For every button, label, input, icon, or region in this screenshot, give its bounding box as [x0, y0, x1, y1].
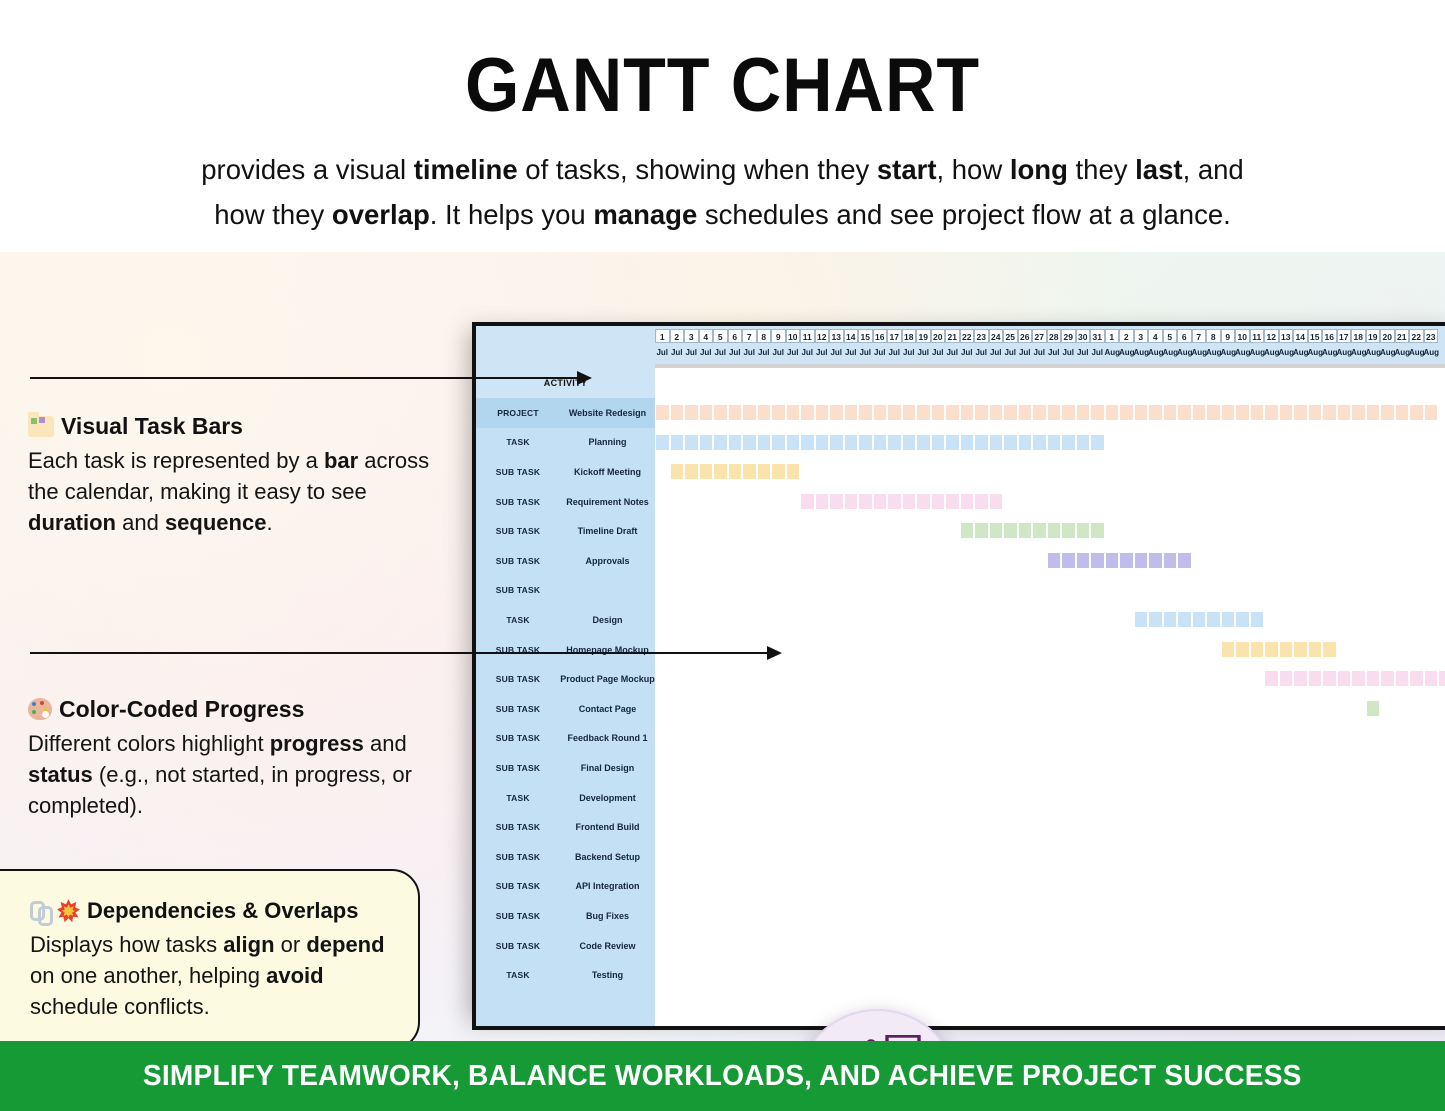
gantt-task-bar[interactable]	[960, 523, 1105, 538]
date-header-day: 23	[1424, 329, 1439, 343]
date-header-day: 11	[800, 329, 815, 343]
gantt-date-header[interactable]: 1Jul2Jul3Jul4Jul5Jul6Jul7Jul8Jul9Jul10Ju…	[655, 326, 1438, 368]
gantt-bar-segment	[771, 435, 786, 450]
gantt-bar-segment	[1090, 553, 1105, 568]
date-header-day: 2	[1119, 329, 1134, 343]
gantt-bar-segment	[815, 494, 830, 509]
gantt-bar-segment	[742, 435, 757, 450]
gantt-bar-segment	[1018, 435, 1033, 450]
date-header-cell[interactable]: 22Jul	[960, 326, 975, 368]
date-header-cell[interactable]: 19Aug	[1366, 326, 1381, 368]
date-header-month: Aug	[1235, 348, 1250, 357]
date-header-cell[interactable]: 23Aug	[1424, 326, 1439, 368]
date-header-day: 22	[1409, 329, 1424, 343]
gantt-bar-segment	[728, 435, 743, 450]
task-name-label: Planning	[560, 437, 655, 447]
date-header-cell[interactable]: 30Jul	[1076, 326, 1091, 368]
date-header-cell[interactable]: 9Aug	[1221, 326, 1236, 368]
date-header-cell[interactable]: 3Aug	[1134, 326, 1149, 368]
gantt-task-row[interactable]: TASKPlanning	[476, 428, 655, 458]
date-header-cell[interactable]: 11Jul	[800, 326, 815, 368]
gantt-bar-segment	[1076, 435, 1091, 450]
date-header-cell[interactable]: 1Jul	[655, 326, 670, 368]
task-type-label: SUB TASK	[476, 704, 560, 714]
gantt-bar-segment	[713, 464, 728, 479]
date-header-month: Aug	[1351, 348, 1366, 357]
gantt-bar-segment	[1395, 405, 1410, 420]
activity-header-filler	[655, 368, 1445, 398]
page-subtitle: provides a visual timeline of tasks, sho…	[0, 148, 1445, 237]
gantt-task-bar[interactable]	[1134, 612, 1265, 627]
card-index-dividers-icon	[28, 416, 54, 437]
date-header-cell[interactable]: 16Aug	[1322, 326, 1337, 368]
gantt-bar-segment	[670, 405, 685, 420]
date-header-day: 12	[1264, 329, 1279, 343]
date-header-cell[interactable]: 15Jul	[858, 326, 873, 368]
gantt-bar-segment	[858, 405, 873, 420]
date-header-cell[interactable]: 27Jul	[1032, 326, 1047, 368]
task-name-label: Feedback Round 1	[560, 733, 655, 743]
date-header-cell[interactable]: 20Jul	[931, 326, 946, 368]
task-type-label: TASK	[476, 970, 560, 980]
date-header-cell[interactable]: 26Jul	[1018, 326, 1033, 368]
task-type-label: PROJECT	[476, 408, 560, 418]
gantt-task-row[interactable]: SUB TASKContact Page	[476, 694, 655, 724]
date-header-day: 31	[1090, 329, 1105, 343]
content-canvas: Visual Task Bars Each task is represente…	[0, 252, 1445, 1041]
date-header-cell[interactable]: 7Jul	[742, 326, 757, 368]
gantt-bar-segment	[757, 464, 772, 479]
date-header-cell[interactable]: 21Jul	[945, 326, 960, 368]
gantt-bar-segment	[989, 435, 1004, 450]
date-header-day: 7	[742, 329, 757, 343]
pointer-arrow-middle	[30, 652, 780, 654]
gantt-bar-segment	[1061, 435, 1076, 450]
gantt-task-row[interactable]: SUB TASKFeedback Round 1	[476, 724, 655, 754]
date-header-month: Jul	[916, 348, 931, 357]
gantt-bar-segment	[742, 464, 757, 479]
date-header-month: Jul	[815, 348, 830, 357]
gantt-bar-segment	[1409, 405, 1424, 420]
gantt-bar-segment	[1061, 523, 1076, 538]
date-header-cell[interactable]: 18Aug	[1351, 326, 1366, 368]
gantt-bar-segment	[1366, 405, 1381, 420]
gantt-bar-segment	[1308, 405, 1323, 420]
date-header-month: Aug	[1119, 348, 1134, 357]
date-header-cell[interactable]: 15Aug	[1308, 326, 1323, 368]
task-name-label: Requirement Notes	[560, 497, 655, 507]
gantt-header-band: 1Jul2Jul3Jul4Jul5Jul6Jul7Jul8Jul9Jul10Ju…	[476, 326, 1445, 368]
gantt-bar-segment	[916, 435, 931, 450]
gantt-task-row[interactable]: SUB TASKRequirement Notes	[476, 487, 655, 517]
gantt-bar-segment	[1177, 612, 1192, 627]
gantt-task-row[interactable]: SUB TASKBackend Setup	[476, 842, 655, 872]
gantt-bar-segment	[945, 435, 960, 450]
task-type-label: SUB TASK	[476, 556, 560, 566]
gantt-bars-area[interactable]	[655, 398, 1445, 1026]
date-header-day: 27	[1032, 329, 1047, 343]
feature-2-heading-text: Color-Coded Progress	[59, 695, 304, 724]
date-header-month: Aug	[1366, 348, 1381, 357]
date-header-cell[interactable]: 17Aug	[1337, 326, 1352, 368]
date-header-cell[interactable]: 14Jul	[844, 326, 859, 368]
task-name-label: Frontend Build	[560, 822, 655, 832]
date-header-cell[interactable]: 20Aug	[1380, 326, 1395, 368]
gantt-bar-segment	[699, 464, 714, 479]
date-header-cell[interactable]: 2Jul	[670, 326, 685, 368]
date-header-day: 6	[1177, 329, 1192, 343]
date-header-month: Jul	[960, 348, 975, 357]
gantt-task-bar[interactable]	[1366, 701, 1381, 716]
gantt-bar-segment	[1264, 642, 1279, 657]
gantt-task-row[interactable]: SUB TASKApprovals	[476, 546, 655, 576]
task-type-label: TASK	[476, 437, 560, 447]
date-header-day: 5	[713, 329, 728, 343]
gantt-bar-segment	[815, 405, 830, 420]
gantt-task-label-column[interactable]: PROJECTWebsite RedesignTASKPlanningSUB T…	[476, 398, 655, 1026]
gantt-bar-segment	[1395, 671, 1410, 686]
date-header-cell[interactable]: 18Jul	[902, 326, 917, 368]
gantt-bar-segment	[1380, 671, 1395, 686]
gantt-bar-segment	[1337, 671, 1352, 686]
gantt-task-row[interactable]: SUB TASKCode Review	[476, 931, 655, 961]
gantt-bar-segment	[873, 494, 888, 509]
gantt-bar-segment	[1003, 523, 1018, 538]
task-name-label: Backend Setup	[560, 852, 655, 862]
date-header-day: 10	[1235, 329, 1250, 343]
date-header-cell[interactable]: 4Jul	[699, 326, 714, 368]
date-header-cell[interactable]: 12Jul	[815, 326, 830, 368]
gantt-bar-segment	[815, 435, 830, 450]
date-header-cell[interactable]: 14Aug	[1293, 326, 1308, 368]
date-header-month: Aug	[1221, 348, 1236, 357]
date-header-month: Jul	[670, 348, 685, 357]
date-header-cell[interactable]: 6Jul	[728, 326, 743, 368]
gantt-bar-segment	[670, 435, 685, 450]
gantt-bar-segment	[1148, 553, 1163, 568]
date-header-cell[interactable]: 10Jul	[786, 326, 801, 368]
gantt-bar-segment	[916, 494, 931, 509]
gantt-task-row[interactable]: SUB TASKFinal Design	[476, 753, 655, 783]
date-header-cell[interactable]: 6Aug	[1177, 326, 1192, 368]
gantt-bar-segment	[902, 494, 917, 509]
gantt-bar-segment	[1163, 553, 1178, 568]
gantt-bar-segment	[960, 405, 975, 420]
date-header-cell[interactable]: 1Aug	[1105, 326, 1120, 368]
date-header-day: 3	[684, 329, 699, 343]
gantt-bar-segment	[699, 405, 714, 420]
gantt-task-row[interactable]: TASKDevelopment	[476, 783, 655, 813]
date-header-month: Jul	[902, 348, 917, 357]
date-header-cell[interactable]: 13Jul	[829, 326, 844, 368]
gantt-bar-segment	[974, 494, 989, 509]
date-header-cell[interactable]: 12Aug	[1264, 326, 1279, 368]
task-type-label: SUB TASK	[476, 733, 560, 743]
date-header-cell[interactable]: 17Jul	[887, 326, 902, 368]
task-type-label: SUB TASK	[476, 497, 560, 507]
date-header-month: Jul	[931, 348, 946, 357]
gantt-bar-segment	[974, 405, 989, 420]
gantt-bar-segment	[1293, 642, 1308, 657]
date-header-month: Jul	[887, 348, 902, 357]
gantt-bar-segment	[931, 405, 946, 420]
gantt-task-bar[interactable]	[655, 405, 1438, 420]
date-header-day: 1	[655, 329, 670, 343]
gantt-bar-segment	[1018, 523, 1033, 538]
gantt-bar-segment	[960, 523, 975, 538]
date-header-cell[interactable]: 10Aug	[1235, 326, 1250, 368]
date-header-cell[interactable]: 5Jul	[713, 326, 728, 368]
gantt-bar-segment	[1105, 405, 1120, 420]
gantt-bar-segment	[1250, 405, 1265, 420]
date-header-cell[interactable]: 7Aug	[1192, 326, 1207, 368]
task-name-label: Approvals	[560, 556, 655, 566]
gantt-bar-segment	[1424, 405, 1439, 420]
gantt-bar-segment	[713, 405, 728, 420]
gantt-bar-segment	[1148, 612, 1163, 627]
task-name-label: Timeline Draft	[560, 526, 655, 536]
date-header-day: 24	[989, 329, 1004, 343]
footer-text: SIMPLIFY TEAMWORK, BALANCE WORKLOADS, AN…	[143, 1060, 1302, 1093]
date-header-day: 20	[931, 329, 946, 343]
date-header-month: Aug	[1134, 348, 1149, 357]
gantt-task-row[interactable]: SUB TASKBug Fixes	[476, 901, 655, 931]
gantt-bar-segment	[655, 405, 670, 420]
gantt-bar-segment	[858, 494, 873, 509]
gantt-bar-segment	[1090, 405, 1105, 420]
gantt-bar-segment	[757, 435, 772, 450]
gantt-task-bar[interactable]	[1264, 671, 1445, 686]
gantt-task-row[interactable]: SUB TASKKickoff Meeting	[476, 457, 655, 487]
feature-2-body: Different colors highlight progress and …	[28, 728, 458, 822]
date-header-month: Aug	[1337, 348, 1352, 357]
gantt-bar-segment	[1322, 671, 1337, 686]
date-header-cell[interactable]: 29Jul	[1061, 326, 1076, 368]
gantt-task-bar[interactable]	[800, 494, 1003, 509]
gantt-task-row[interactable]: TASKDesign	[476, 605, 655, 635]
date-header-month: Jul	[699, 348, 714, 357]
date-header-day: 6	[728, 329, 743, 343]
date-header-day: 13	[829, 329, 844, 343]
gantt-bar-segment	[829, 435, 844, 450]
task-name-label: Kickoff Meeting	[560, 467, 655, 477]
task-type-label: SUB TASK	[476, 467, 560, 477]
date-header-day: 23	[974, 329, 989, 343]
date-header-day: 16	[873, 329, 888, 343]
gantt-bar-segment	[1293, 405, 1308, 420]
date-header-cell[interactable]: 31Jul	[1090, 326, 1105, 368]
task-type-label: SUB TASK	[476, 526, 560, 536]
gantt-bar-segment	[1366, 701, 1381, 716]
task-type-label: TASK	[476, 615, 560, 625]
date-header-cell[interactable]: 8Aug	[1206, 326, 1221, 368]
gantt-bar-segment	[829, 494, 844, 509]
date-header-cell[interactable]: 13Aug	[1279, 326, 1294, 368]
gantt-bar-segment	[1192, 405, 1207, 420]
date-header-day: 15	[858, 329, 873, 343]
gantt-bar-segment	[902, 405, 917, 420]
feature-visual-task-bars: Visual Task Bars Each task is represente…	[28, 412, 458, 538]
gantt-bar-segment	[1163, 612, 1178, 627]
gantt-bar-segment	[1221, 405, 1236, 420]
date-header-day: 19	[916, 329, 931, 343]
gantt-bar-segment	[1076, 405, 1091, 420]
date-header-cell[interactable]: 25Jul	[1003, 326, 1018, 368]
subtitle-line-1: provides a visual timeline of tasks, sho…	[201, 154, 1243, 185]
date-header-day: 13	[1279, 329, 1294, 343]
date-header-day: 8	[1206, 329, 1221, 343]
date-header-cell[interactable]: 4Aug	[1148, 326, 1163, 368]
date-header-day: 21	[1395, 329, 1410, 343]
gantt-bar-segment	[1424, 671, 1439, 686]
gantt-bar-segment	[1148, 405, 1163, 420]
date-header-day: 4	[1148, 329, 1163, 343]
date-header-cell[interactable]: 23Jul	[974, 326, 989, 368]
date-header-day: 5	[1163, 329, 1178, 343]
gantt-bar-segment	[1061, 405, 1076, 420]
pointer-arrow-top	[30, 377, 590, 379]
gantt-bar-segment	[960, 494, 975, 509]
date-header-cell[interactable]: 5Aug	[1163, 326, 1178, 368]
task-name-label: Testing	[560, 970, 655, 980]
date-header-cell[interactable]: 8Jul	[757, 326, 772, 368]
gantt-chart-window[interactable]: 1Jul2Jul3Jul4Jul5Jul6Jul7Jul8Jul9Jul10Ju…	[472, 322, 1445, 1030]
footer-banner: SIMPLIFY TEAMWORK, BALANCE WORKLOADS, AN…	[0, 1041, 1445, 1111]
gantt-bar-segment	[1235, 405, 1250, 420]
gantt-task-row[interactable]: SUB TASKAPI Integration	[476, 872, 655, 902]
gantt-bar-segment	[1090, 523, 1105, 538]
gantt-bar-segment	[684, 405, 699, 420]
gantt-task-bar[interactable]	[670, 464, 801, 479]
gantt-bar-segment	[1221, 612, 1236, 627]
gantt-bar-segment	[1308, 642, 1323, 657]
date-header-month: Jul	[800, 348, 815, 357]
task-name-label: Final Design	[560, 763, 655, 773]
gantt-bar-segment	[742, 405, 757, 420]
date-header-month: Aug	[1148, 348, 1163, 357]
gantt-bar-segment	[1047, 553, 1062, 568]
date-header-month: Aug	[1308, 348, 1323, 357]
date-header-day: 17	[1337, 329, 1352, 343]
gantt-bar-segment	[1163, 405, 1178, 420]
gantt-task-bar[interactable]	[1047, 553, 1192, 568]
gantt-bar-segment	[684, 435, 699, 450]
gantt-task-row[interactable]: SUB TASKProduct Page Mockup	[476, 664, 655, 694]
feature-1-heading: Visual Task Bars	[28, 412, 458, 441]
gantt-bar-segment	[757, 405, 772, 420]
gantt-bar-segment	[728, 405, 743, 420]
gantt-task-row[interactable]: TASKTesting	[476, 960, 655, 990]
date-header-month: Jul	[989, 348, 1004, 357]
gantt-bar-segment	[1279, 642, 1294, 657]
gantt-bar-segment	[786, 435, 801, 450]
page-title: GANTT CHART	[58, 0, 1387, 124]
date-header-cell[interactable]: 11Aug	[1250, 326, 1265, 368]
gantt-bar-segment	[713, 435, 728, 450]
task-type-label: SUB TASK	[476, 585, 560, 595]
gantt-bar-segment	[1134, 553, 1149, 568]
gantt-bar-segment	[1047, 405, 1062, 420]
task-name-label: Code Review	[560, 941, 655, 951]
gantt-bar-segment	[1264, 671, 1279, 686]
gantt-task-row[interactable]: SUB TASKHomepage Mockup	[476, 635, 655, 665]
gantt-task-row[interactable]: SUB TASKTimeline Draft	[476, 516, 655, 546]
date-header-cell[interactable]: 21Aug	[1395, 326, 1410, 368]
gantt-bar-segment	[1177, 553, 1192, 568]
activity-column-header: ACTIVITY	[476, 368, 655, 398]
date-header-month: Aug	[1192, 348, 1207, 357]
gantt-bar-segment	[1337, 405, 1352, 420]
gantt-bar-segment	[858, 435, 873, 450]
task-name-label: API Integration	[560, 881, 655, 891]
date-header-day: 18	[1351, 329, 1366, 343]
gantt-bar-segment	[771, 464, 786, 479]
gantt-task-row[interactable]: SUB TASKFrontend Build	[476, 812, 655, 842]
gantt-bar-segment	[960, 435, 975, 450]
page-header: GANTT CHART provides a visual timeline o…	[0, 0, 1445, 252]
date-header-month: Aug	[1409, 348, 1424, 357]
gantt-bar-segment	[1119, 405, 1134, 420]
date-header-day: 7	[1192, 329, 1207, 343]
gantt-bar-segment	[1047, 523, 1062, 538]
date-header-day: 9	[1221, 329, 1236, 343]
date-header-cell[interactable]: 3Jul	[684, 326, 699, 368]
feature-2-heading: Color-Coded Progress	[28, 695, 458, 724]
gantt-task-row[interactable]: SUB TASK	[476, 576, 655, 606]
date-header-month: Jul	[728, 348, 743, 357]
gantt-task-bar[interactable]	[655, 435, 1105, 450]
date-header-cell[interactable]: 24Jul	[989, 326, 1004, 368]
gantt-bar-segment	[1061, 553, 1076, 568]
task-type-label: SUB TASK	[476, 852, 560, 862]
date-header-cell[interactable]: 16Jul	[873, 326, 888, 368]
gantt-bar-segment	[887, 494, 902, 509]
date-header-cell[interactable]: 2Aug	[1119, 326, 1134, 368]
gantt-bar-segment	[1032, 435, 1047, 450]
date-header-month: Jul	[655, 348, 670, 357]
date-header-cell[interactable]: 22Aug	[1409, 326, 1424, 368]
gantt-bar-segment	[1134, 405, 1149, 420]
date-header-day: 26	[1018, 329, 1033, 343]
gantt-bar-segment	[800, 405, 815, 420]
date-header-month: Jul	[1047, 348, 1062, 357]
gantt-bar-segment	[655, 435, 670, 450]
gantt-bar-segment	[1047, 435, 1062, 450]
date-header-cell[interactable]: 19Jul	[916, 326, 931, 368]
gantt-header-left-corner	[476, 326, 655, 368]
date-header-day: 22	[960, 329, 975, 343]
chain-links-icon	[30, 900, 50, 922]
date-header-cell[interactable]: 9Jul	[771, 326, 786, 368]
gantt-bar-segment	[989, 523, 1004, 538]
date-header-day: 2	[670, 329, 685, 343]
date-header-cell[interactable]: 28Jul	[1047, 326, 1062, 368]
gantt-bar-segment	[1003, 435, 1018, 450]
gantt-bar-segment	[1264, 405, 1279, 420]
date-header-day: 8	[757, 329, 772, 343]
gantt-bar-segment	[916, 405, 931, 420]
gantt-bar-segment	[1322, 405, 1337, 420]
gantt-bar-segment	[1177, 405, 1192, 420]
date-header-month: Jul	[684, 348, 699, 357]
date-header-month: Jul	[1076, 348, 1091, 357]
gantt-bar-segment	[1018, 405, 1033, 420]
gantt-task-row[interactable]: PROJECTWebsite Redesign	[476, 398, 655, 428]
gantt-bar-segment	[873, 435, 888, 450]
task-type-label: SUB TASK	[476, 881, 560, 891]
gantt-task-bar[interactable]	[1221, 642, 1337, 657]
gantt-bar-segment	[684, 464, 699, 479]
